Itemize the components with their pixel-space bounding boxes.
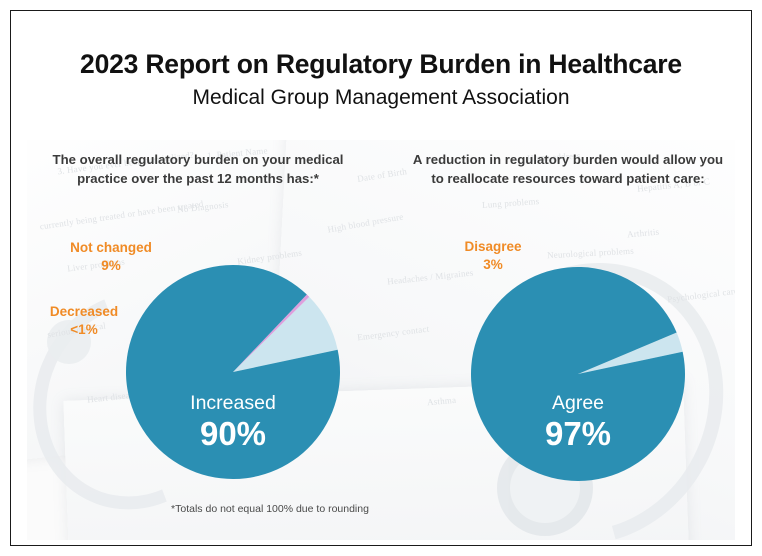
slice-label-decreased-percent: <1% (28, 321, 140, 339)
pie-right-svg: Agree 97% (470, 266, 686, 482)
page-title: 2023 Report on Regulatory Burden in Heal… (0, 50, 762, 80)
chart-question-left: The overall regulatory burden on your me… (18, 150, 378, 188)
slice-label-disagree: Disagree 3% (438, 238, 548, 274)
pie-chart-regulatory-burden: Increased 90% (125, 264, 341, 480)
slice-label-decreased: Decreased <1% (28, 303, 140, 339)
chart-column-left: The overall regulatory burden on your me… (18, 150, 378, 188)
footnote: *Totals do not equal 100% due to roundin… (120, 503, 420, 515)
pie-right-center-percent: 97% (545, 415, 611, 452)
pie-chart-reallocate-resources: Agree 97% (470, 266, 686, 482)
slice-label-disagree-name: Disagree (464, 239, 521, 254)
page-subtitle: Medical Group Management Association (0, 86, 762, 110)
chart-column-right: A reduction in regulatory burden would a… (388, 150, 748, 188)
slice-label-not-changed: Not changed 9% (46, 239, 176, 275)
slice-label-not-changed-percent: 9% (46, 257, 176, 275)
slice-label-decreased-name: Decreased (50, 304, 118, 319)
pie-left-svg: Increased 90% (125, 264, 341, 480)
pie-right-center-name: Agree (552, 392, 604, 414)
title-block: 2023 Report on Regulatory Burden in Heal… (0, 50, 762, 110)
pie-left-center-name: Increased (190, 392, 276, 414)
chart-question-right: A reduction in regulatory burden would a… (388, 150, 748, 188)
slice-label-disagree-percent: 3% (438, 256, 548, 274)
slice-label-not-changed-name: Not changed (70, 240, 152, 255)
pie-left-center-percent: 90% (200, 415, 266, 452)
infographic-slide: 3. Have you ever been hospitalized?1. Pa… (0, 0, 762, 556)
